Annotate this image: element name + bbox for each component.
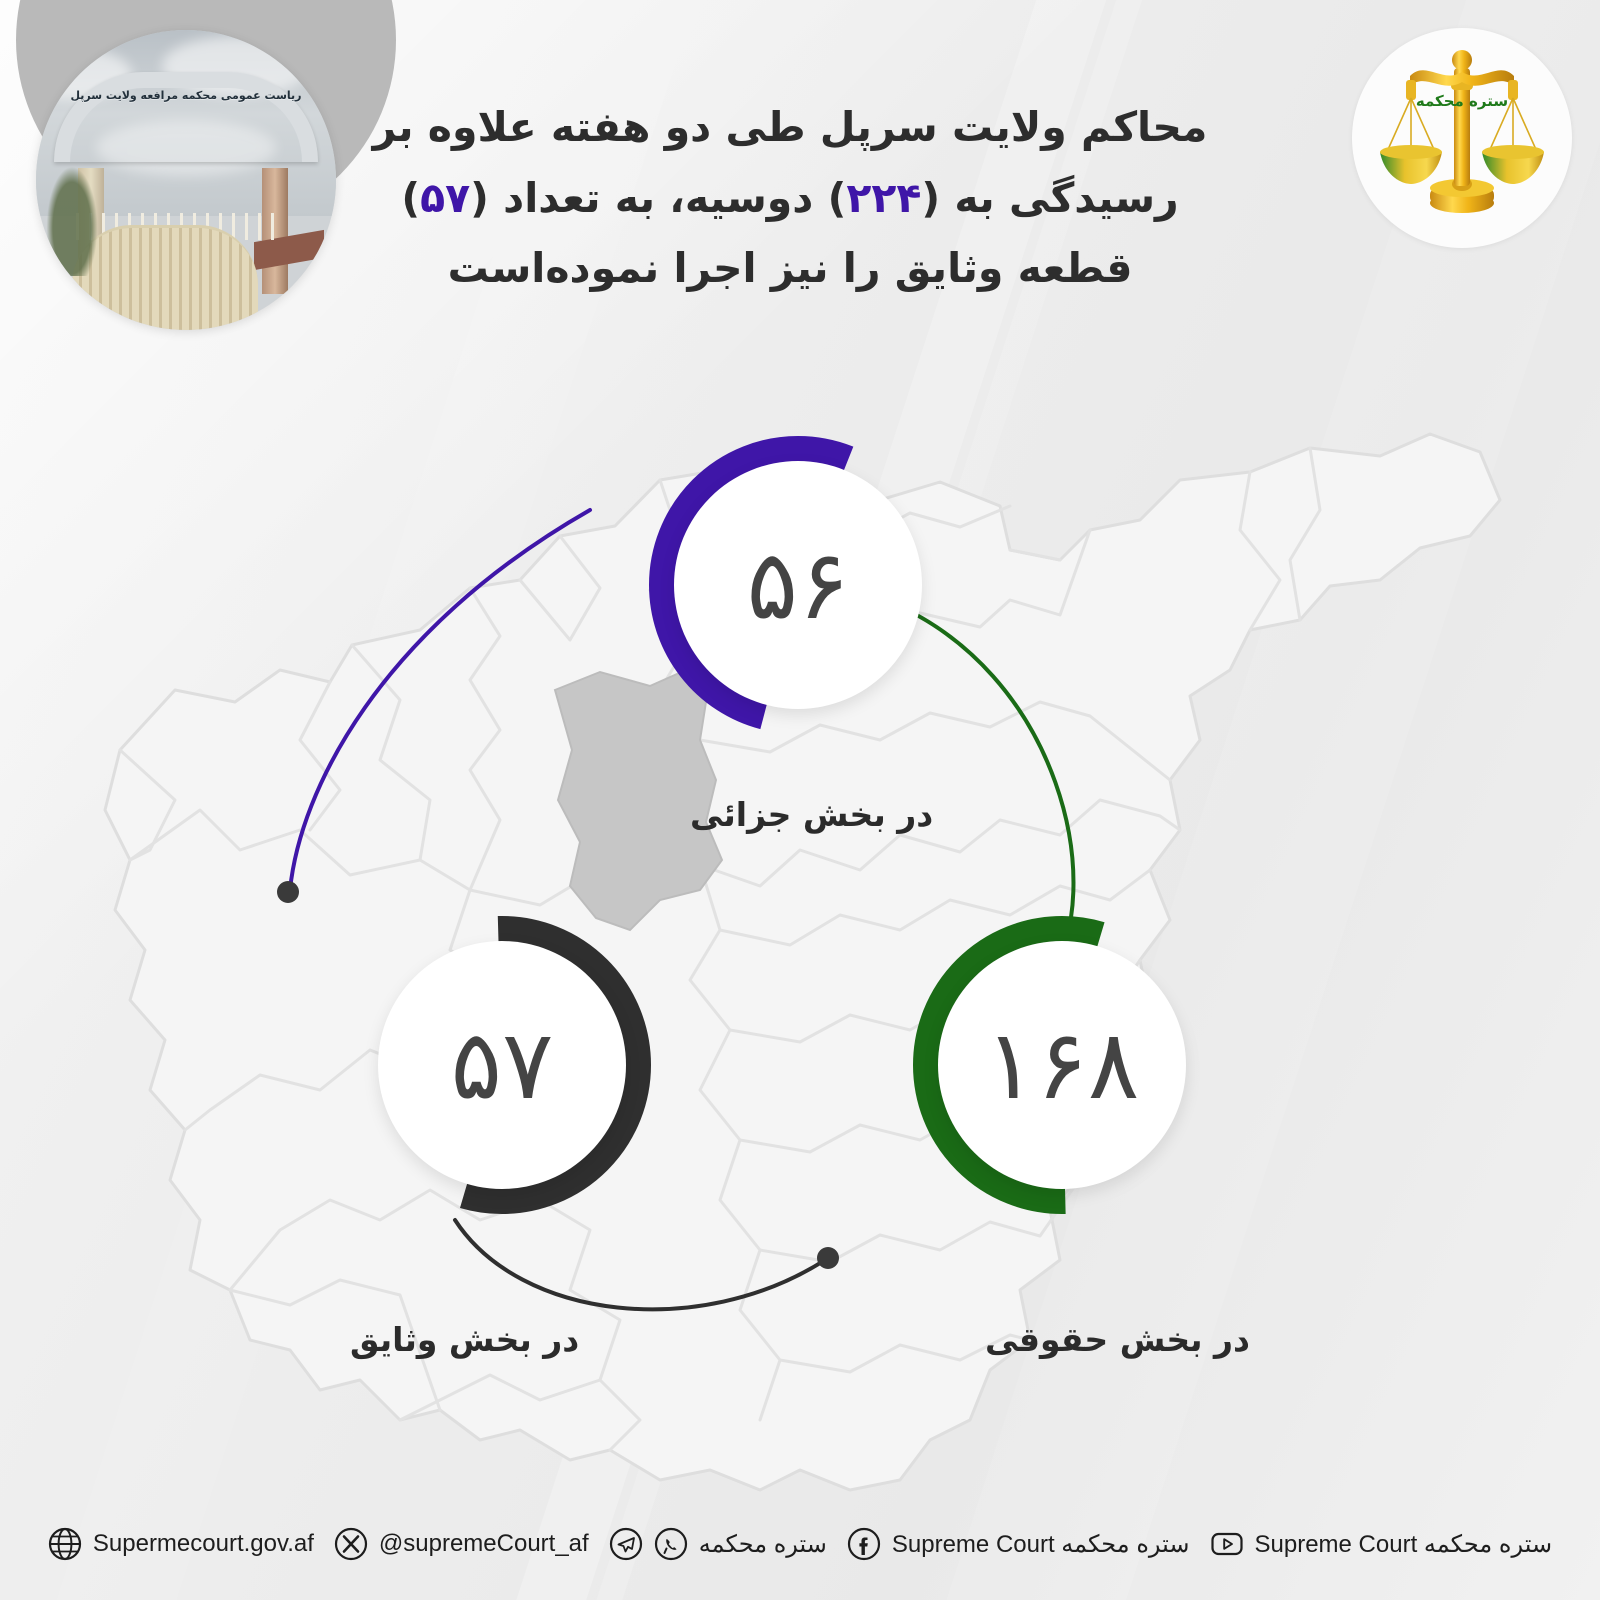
footer-item-website[interactable]: Supermecourt.gov.af — [48, 1527, 314, 1561]
x-twitter-icon — [334, 1527, 368, 1561]
facebook-icon — [847, 1527, 881, 1561]
donut-label-civil: در بخش حقوقی — [985, 1320, 1250, 1359]
headline-line-2: رسیدگی به (۲۲۴) دوسیه، به تعداد (۵۷) — [340, 163, 1240, 234]
footer-item-twitter[interactable]: @supremeCourt_af — [334, 1527, 589, 1561]
infographic-canvas: ریاست عمومی محکمه مرافعه ولایت سرپل محاک… — [0, 0, 1600, 1600]
footer-label-facebook: ستره محکمه Supreme Court — [892, 1530, 1190, 1559]
donut-value-criminal: ۵۶ — [746, 537, 849, 633]
footer-item-facebook[interactable]: ستره محکمه Supreme Court — [847, 1527, 1190, 1561]
footer-label-twitter: @supremeCourt_af — [379, 1530, 589, 1558]
donut-value-deeds: ۵۷ — [450, 1017, 553, 1113]
telegram-icon — [609, 1527, 643, 1561]
headline-text-c: ) — [401, 174, 420, 222]
courthouse-photo: ریاست عمومی محکمه مرافعه ولایت سرپل — [36, 30, 336, 330]
whatsapp-icon — [654, 1527, 688, 1561]
footer-item-youtube[interactable]: ستره محکمه Supreme Court — [1210, 1527, 1553, 1561]
donut-label-deeds: در بخش وثایق — [350, 1320, 579, 1359]
donut-center-deeds: ۵۷ — [378, 941, 626, 1189]
donut-center-criminal: ۵۶ — [674, 461, 922, 709]
supreme-court-logo: ستره محکمه — [1352, 28, 1572, 248]
logo-text: ستره محکمه — [1416, 92, 1508, 110]
donut-label-criminal: در بخش جزائی — [690, 795, 933, 834]
footer-social-bar: Supermecourt.gov.af @supremeCourt_af ستر… — [0, 1514, 1600, 1574]
connector-dot-deeds — [817, 1247, 839, 1269]
headline-text-a: رسیدگی به ( — [921, 174, 1178, 222]
headline-docs-count: ۵۷ — [420, 174, 470, 222]
headline-text-b: ) دوسیه، به تعداد ( — [470, 174, 846, 222]
donut-deeds[interactable]: ۵۷ — [352, 915, 652, 1215]
donut-civil[interactable]: ۱۶۸ — [912, 915, 1212, 1215]
donut-center-civil: ۱۶۸ — [938, 941, 1186, 1189]
scales-of-justice-icon: ستره محکمه — [1352, 28, 1572, 248]
headline-line-1: محاکم ولایت سرپل طی دو هفته علاوه بر — [340, 92, 1240, 163]
donut-value-civil: ۱۶۸ — [985, 1017, 1140, 1113]
connector-dot-criminal — [277, 881, 299, 903]
header: ریاست عمومی محکمه مرافعه ولایت سرپل محاک… — [0, 0, 1600, 390]
donut-criminal[interactable]: ۵۶ — [648, 435, 948, 735]
headline-cases-count: ۲۲۴ — [846, 174, 921, 222]
footer-item-messengers[interactable]: ستره محکمه — [609, 1527, 827, 1561]
footer-label-youtube: ستره محکمه Supreme Court — [1255, 1530, 1553, 1559]
headline-line-3: قطعه وثایق را نیز اجرا نموده‌است — [340, 233, 1240, 304]
youtube-icon — [1210, 1527, 1244, 1561]
footer-label-website: Supermecourt.gov.af — [93, 1530, 314, 1558]
footer-label-messengers: ستره محکمه — [699, 1530, 827, 1559]
globe-icon — [48, 1527, 82, 1561]
page-headline: محاکم ولایت سرپل طی دو هفته علاوه بر رسی… — [340, 92, 1240, 304]
courthouse-sign-text: ریاست عمومی محکمه مرافعه ولایت سرپل — [66, 90, 306, 102]
